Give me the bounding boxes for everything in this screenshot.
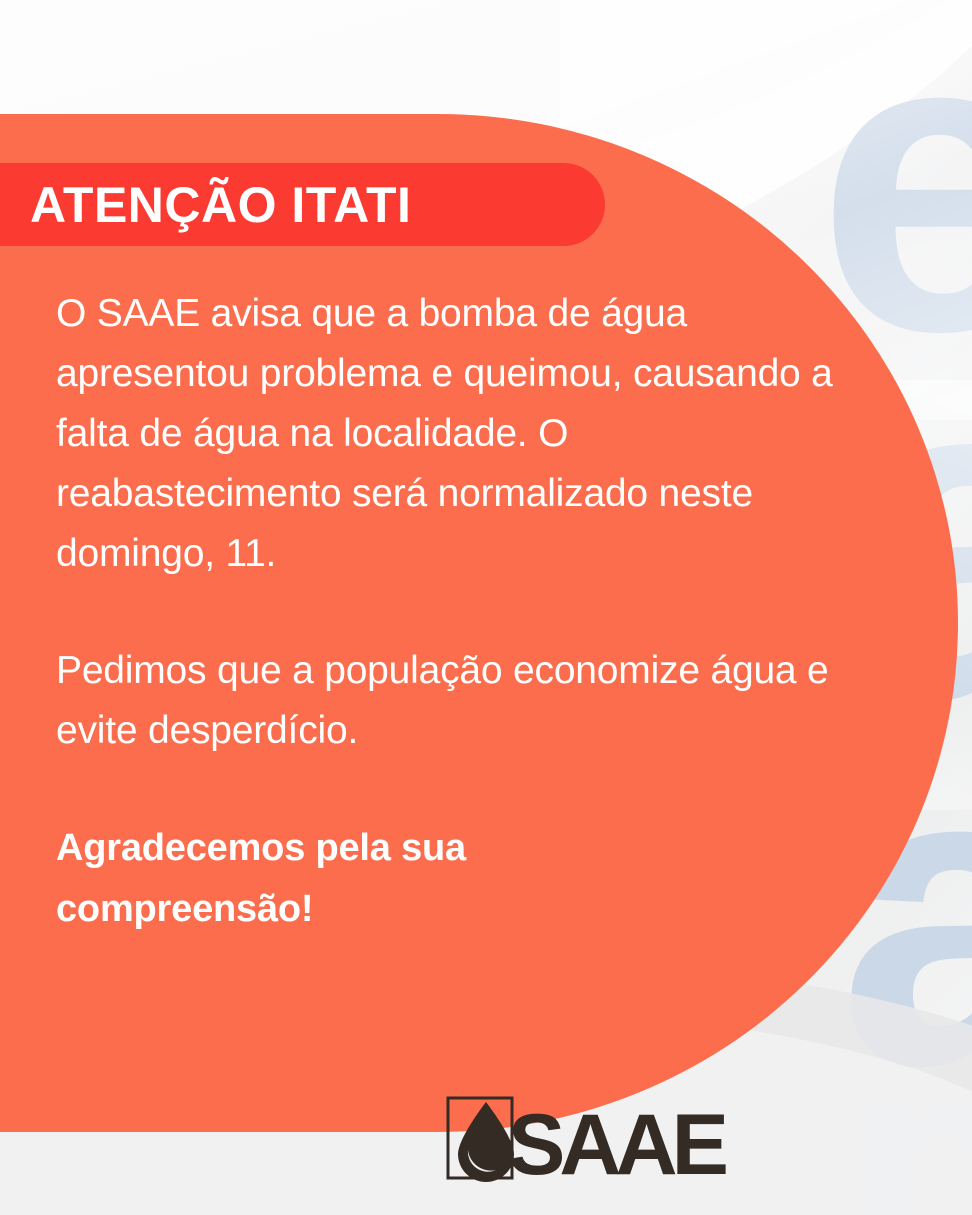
announcement-body: O SAAE avisa que a bomba de água apresen… — [56, 284, 846, 940]
page-title: ATENÇÃO ITATI — [0, 176, 411, 234]
closing-message: Agradecemos pela sua compreensão! — [56, 818, 616, 940]
announcement-poster: e a a n ATENÇÃO ITATI O SAAE avisa que a… — [0, 0, 972, 1215]
logo-wordmark: SAAE — [508, 1097, 726, 1182]
paragraph-1: O SAAE avisa que a bomba de água apresen… — [56, 284, 846, 584]
water-drop-icon — [458, 1102, 514, 1182]
title-banner: ATENÇÃO ITATI — [0, 163, 605, 246]
saae-logo: SAAE SAAE — [446, 1094, 762, 1182]
paragraph-2: Pedimos que a população economize água e… — [56, 641, 846, 761]
